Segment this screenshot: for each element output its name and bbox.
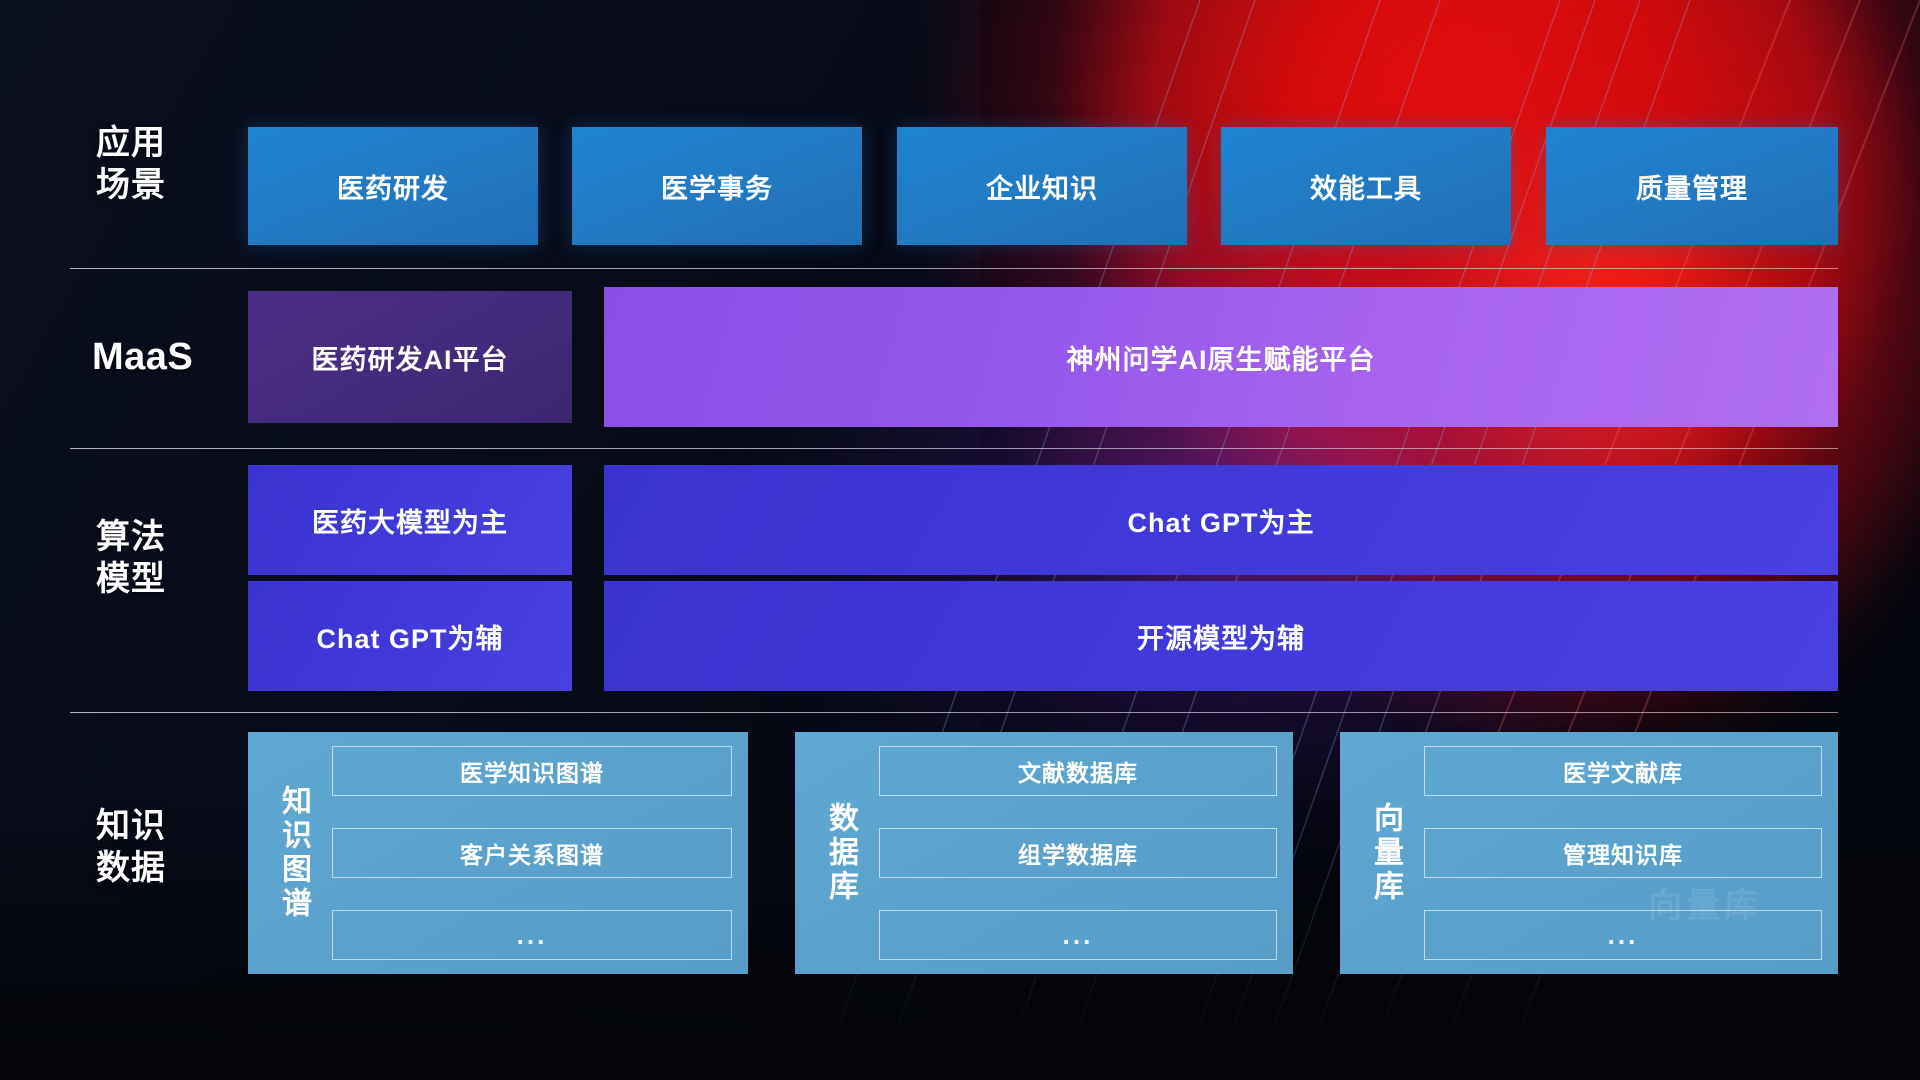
scenario-box-3-label: 企业知识 xyxy=(986,167,1098,206)
divider-1 xyxy=(70,268,1838,269)
knowledge-item-1-3[interactable]: ... xyxy=(332,910,732,960)
knowledge-group-2-label: 数据库 xyxy=(811,746,869,960)
knowledge-item-1-2[interactable]: 客户关系图谱 xyxy=(332,828,732,878)
maas-left-box[interactable]: 医药研发AI平台 xyxy=(248,291,572,423)
scenario-box-2-label: 医学事务 xyxy=(661,167,773,206)
scenario-box-5-label: 质量管理 xyxy=(1636,167,1748,206)
knowledge-item-2-1[interactable]: 文献数据库 xyxy=(879,746,1277,796)
divider-3 xyxy=(70,712,1838,713)
row-label-maas: MaaS xyxy=(92,336,252,378)
knowledge-group-1-items: 医学知识图谱 客户关系图谱 ... xyxy=(322,746,732,960)
knowledge-item-1-1[interactable]: 医学知识图谱 xyxy=(332,746,732,796)
knowledge-item-3-2[interactable]: 管理知识库 xyxy=(1424,828,1822,878)
scenario-box-2[interactable]: 医学事务 xyxy=(572,127,862,245)
maas-left-box-label: 医药研发AI平台 xyxy=(312,338,509,377)
knowledge-group-3-label: 向量库 xyxy=(1356,746,1414,960)
maas-right-box-label: 神州问学AI原生赋能平台 xyxy=(1067,338,1376,377)
knowledge-item-2-2[interactable]: 组学数据库 xyxy=(879,828,1277,878)
algo-right-box-1[interactable]: Chat GPT为主 xyxy=(604,465,1838,575)
algo-left-box-1[interactable]: 医药大模型为主 xyxy=(248,465,572,575)
divider-2 xyxy=(70,448,1838,449)
algo-left-box-1-label: 医药大模型为主 xyxy=(312,501,508,540)
knowledge-group-2-items: 文献数据库 组学数据库 ... xyxy=(869,746,1277,960)
scenario-box-1-label: 医药研发 xyxy=(337,167,449,206)
knowledge-group-knowledge-graph[interactable]: 知识图谱 医学知识图谱 客户关系图谱 ... xyxy=(248,732,748,974)
knowledge-item-3-1[interactable]: 医学文献库 xyxy=(1424,746,1822,796)
scenario-box-1[interactable]: 医药研发 xyxy=(248,127,538,245)
maas-right-box[interactable]: 神州问学AI原生赋能平台 xyxy=(604,287,1838,427)
row-label-knowledge-data: 知识 数据 xyxy=(96,805,236,889)
algo-right-box-1-label: Chat GPT为主 xyxy=(1127,501,1314,540)
algo-right-box-2[interactable]: 开源模型为辅 xyxy=(604,581,1838,691)
scenario-box-5[interactable]: 质量管理 xyxy=(1546,127,1838,245)
algo-left-box-2-label: Chat GPT为辅 xyxy=(316,617,503,656)
scenario-box-3[interactable]: 企业知识 xyxy=(897,127,1187,245)
algo-right-box-2-label: 开源模型为辅 xyxy=(1137,617,1305,656)
row-label-algorithm-models: 算法 模型 xyxy=(96,516,236,600)
knowledge-group-3-items: 医学文献库 管理知识库 ... xyxy=(1414,746,1822,960)
scenario-box-4[interactable]: 效能工具 xyxy=(1221,127,1511,245)
algo-left-box-2[interactable]: Chat GPT为辅 xyxy=(248,581,572,691)
knowledge-item-3-3[interactable]: ... xyxy=(1424,910,1822,960)
knowledge-group-database[interactable]: 数据库 文献数据库 组学数据库 ... xyxy=(795,732,1293,974)
knowledge-item-2-3[interactable]: ... xyxy=(879,910,1277,960)
knowledge-group-vector-store[interactable]: 向量库 医学文献库 管理知识库 ... xyxy=(1340,732,1838,974)
row-label-application-scenarios: 应用 场景 xyxy=(96,122,236,206)
knowledge-group-1-label: 知识图谱 xyxy=(264,746,322,960)
scenario-box-4-label: 效能工具 xyxy=(1310,167,1422,206)
